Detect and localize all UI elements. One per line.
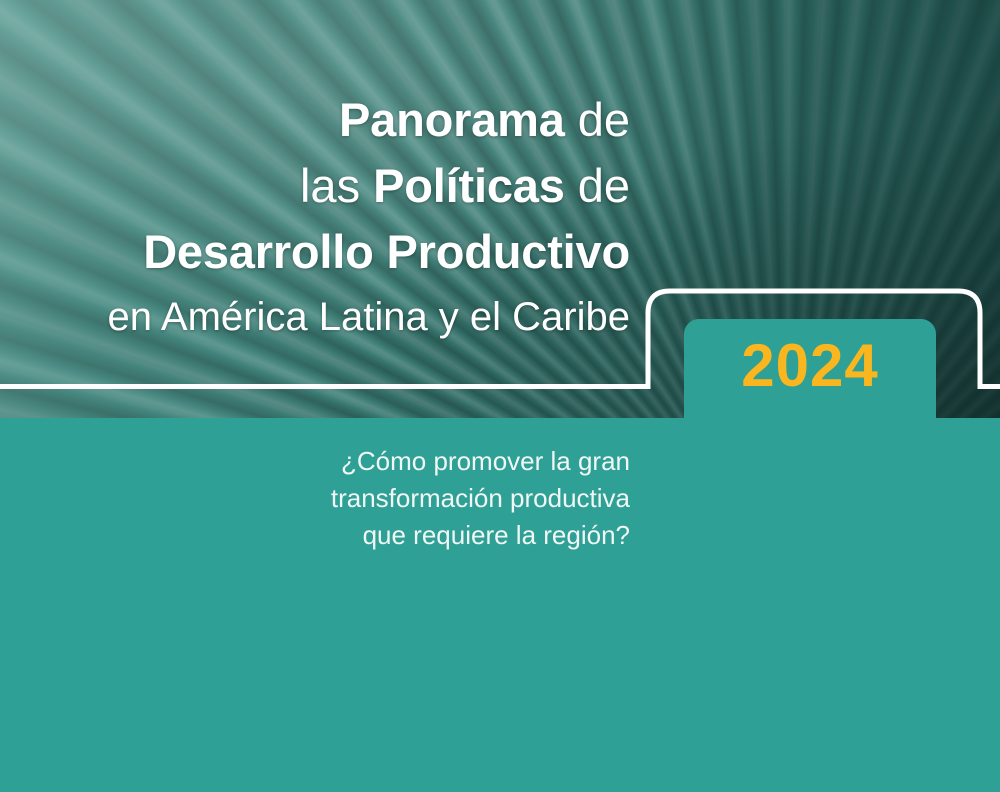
title-line-4: en América Latina y el Caribe [0, 297, 630, 337]
title-line-3: Desarrollo Productivo [0, 228, 630, 275]
title-line-4-light: en América Latina y el Caribe [108, 295, 631, 339]
title-line-1-light: de [578, 93, 630, 146]
report-cover-page: Panorama de las Políticas de Desarrollo … [0, 0, 1000, 792]
cover-subtitle: ¿Cómo promover la gran transformación pr… [0, 443, 630, 554]
title-line-2: las Políticas de [0, 162, 630, 209]
title-underline-rule [0, 384, 648, 389]
year-badge: 2024 [684, 319, 936, 420]
title-line-1-strong: Panorama [339, 93, 565, 146]
cover-title: Panorama de las Políticas de Desarrollo … [0, 96, 630, 337]
title-line-2-strong: Políticas [373, 159, 565, 212]
title-line-1: Panorama de [0, 96, 630, 143]
subtitle-line-2: transformación productiva [0, 480, 630, 517]
title-line-2-light-post: de [578, 159, 630, 212]
title-line-2-light-pre: las [300, 159, 360, 212]
title-line-3-strong: Desarrollo Productivo [143, 225, 630, 278]
subtitle-line-1: ¿Cómo promover la gran [0, 443, 630, 480]
subtitle-line-3: que requiere la región? [0, 517, 630, 554]
year-badge-label: 2024 [741, 336, 878, 396]
